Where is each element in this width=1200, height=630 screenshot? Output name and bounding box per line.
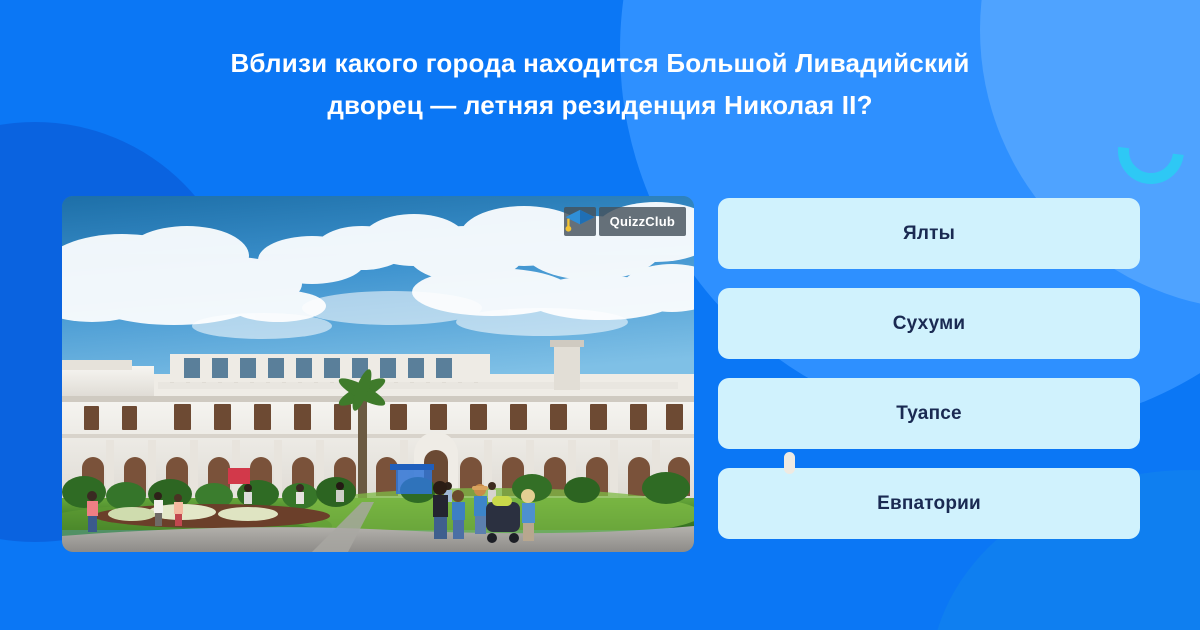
quizzclub-watermark: QuizzClub	[564, 207, 686, 236]
answer-option-3-label: Туапсе	[896, 403, 962, 425]
question-title: Вблизи какого города находится Большой Л…	[0, 42, 1200, 126]
question-title-line-1: Вблизи какого города находится Большой Л…	[100, 42, 1100, 84]
quiz-question-card: Вблизи какого города находится Большой Л…	[0, 0, 1200, 630]
answer-options-list: Ялты Сухуми Туапсе Евпатории	[718, 198, 1140, 558]
answer-option-4[interactable]: Евпатории	[718, 468, 1140, 539]
graduation-cap-icon	[564, 207, 596, 236]
answer-option-1[interactable]: Ялты	[718, 198, 1140, 269]
answer-option-1-label: Ялты	[903, 223, 955, 245]
livadia-palace-illustration	[62, 196, 694, 552]
answer-option-2[interactable]: Сухуми	[718, 288, 1140, 359]
graduation-cap-glyph	[564, 207, 596, 236]
answer-option-4-label: Евпатории	[877, 493, 981, 515]
question-title-line-2: дворец — летняя резиденция Николая II?	[100, 84, 1100, 126]
quizzclub-brand-label: QuizzClub	[599, 207, 686, 236]
question-image: QuizzClub	[62, 196, 694, 552]
answer-option-2-label: Сухуми	[893, 313, 966, 335]
answer-option-3[interactable]: Туапсе	[718, 378, 1140, 449]
scroll-thumb-marker[interactable]	[784, 452, 795, 474]
